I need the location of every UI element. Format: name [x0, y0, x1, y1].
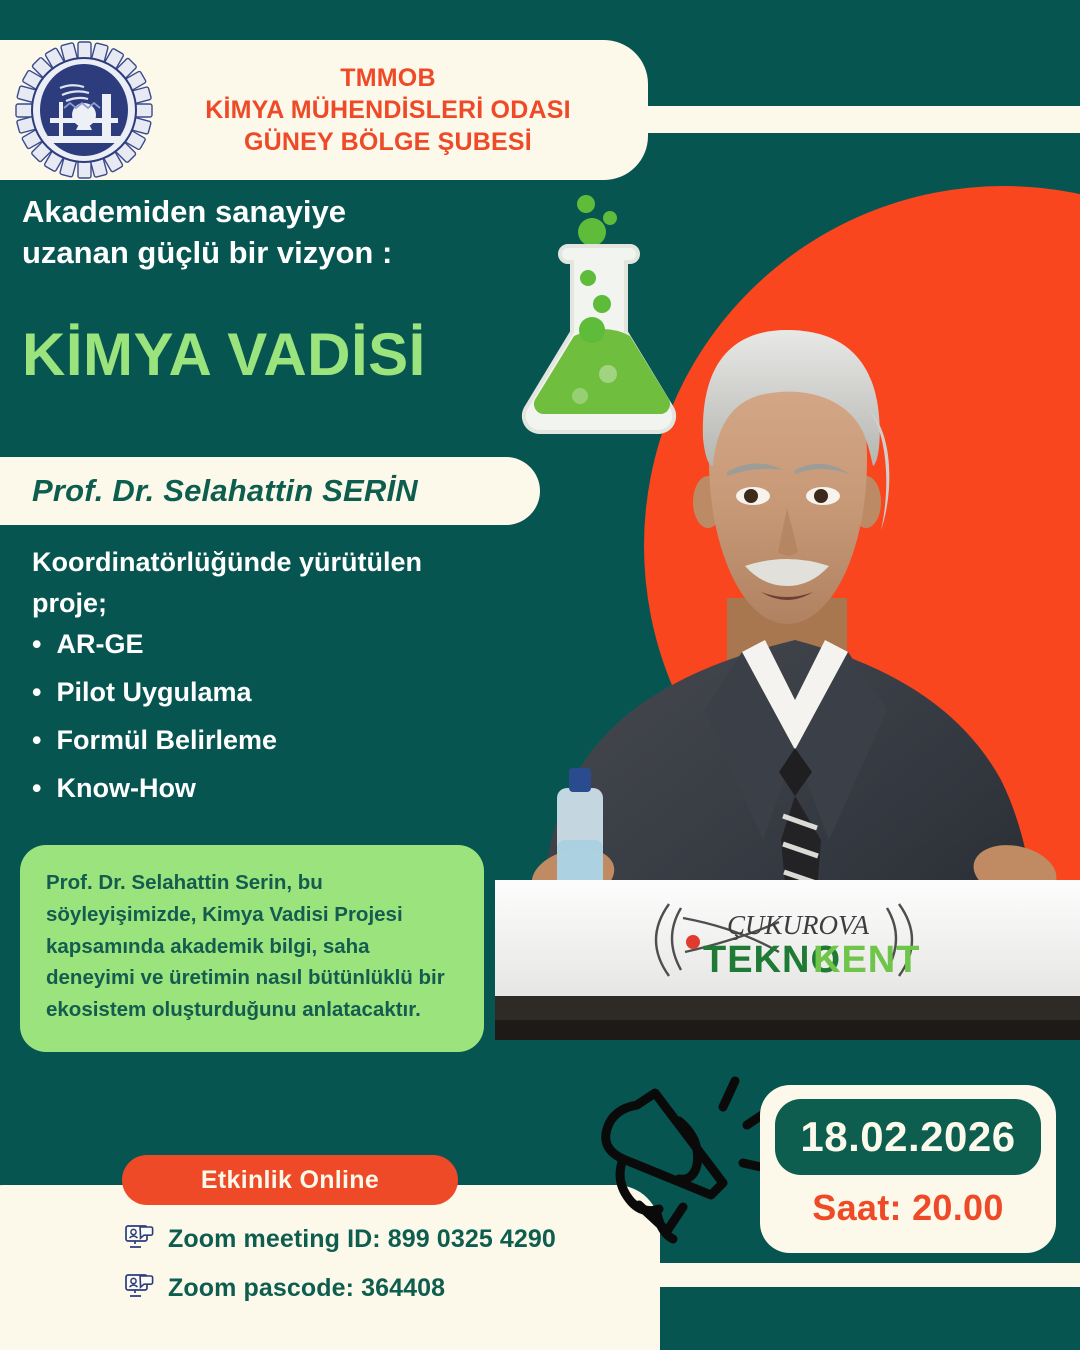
- zoom-meeting-id-row: Zoom meeting ID: 899 0325 4290: [124, 1222, 556, 1257]
- video-conference-icon: [124, 1271, 154, 1306]
- header-panel: TMMOB KİMYA MÜHENDİSLERİ ODASI GÜNEY BÖL…: [0, 40, 648, 180]
- online-badge-label: Etkinlik Online: [201, 1166, 379, 1195]
- svg-text:KENT: KENT: [813, 939, 920, 981]
- event-time: Saat: 20.00: [812, 1187, 1003, 1229]
- zoom-passcode-row: Zoom pascode: 364408: [124, 1271, 556, 1306]
- org-line-1: TMMOB: [164, 62, 612, 94]
- kicker-text: Akademiden sanayiye uzanan güçlü bir viz…: [22, 192, 650, 274]
- megaphone-icon: [583, 1063, 783, 1278]
- speaker-name-pill: Prof. Dr. Selahattin SERİN: [0, 457, 540, 525]
- list-item: Pilot Uygulama: [32, 668, 552, 716]
- organization-name: TMMOB KİMYA MÜHENDİSLERİ ODASI GÜNEY BÖL…: [164, 62, 648, 158]
- date-badge: 18.02.2026: [775, 1099, 1041, 1175]
- main-text-column: Akademiden sanayiye uzanan güçlü bir viz…: [0, 192, 650, 389]
- event-date: 18.02.2026: [800, 1113, 1015, 1161]
- org-line-3: GÜNEY BÖLGE ŞUBESİ: [164, 126, 612, 158]
- tmmob-gear-logo: [4, 40, 164, 180]
- event-poster: ÇUKUROVA TEKNO KENT: [0, 0, 1080, 1350]
- project-bullet-list: AR-GE Pilot Uygulama Formül Belirleme Kn…: [32, 620, 552, 812]
- zoom-passcode-text: Zoom pascode: 364408: [168, 1274, 445, 1303]
- video-conference-icon: [124, 1222, 154, 1257]
- date-time-card: 18.02.2026 Saat: 20.00: [760, 1085, 1056, 1253]
- svg-text:ÇUKUROVA: ÇUKUROVA: [727, 910, 869, 940]
- speaker-name: Prof. Dr. Selahattin SERİN: [32, 473, 418, 509]
- page-title: KİMYA VADİSİ: [22, 320, 650, 389]
- list-item: Know-How: [32, 764, 552, 812]
- zoom-details: Zoom meeting ID: 899 0325 4290 Zoom pasc…: [124, 1222, 556, 1320]
- org-line-2: KİMYA MÜHENDİSLERİ ODASI: [164, 94, 612, 126]
- project-lead-text: Koordinatörlüğünde yürütülen proje;: [32, 542, 552, 623]
- zoom-meeting-id-text: Zoom meeting ID: 899 0325 4290: [168, 1225, 556, 1254]
- list-item: AR-GE: [32, 620, 552, 668]
- list-item: Formül Belirleme: [32, 716, 552, 764]
- description-box: Prof. Dr. Selahattin Serin, bu söyleyişi…: [20, 845, 484, 1052]
- online-badge: Etkinlik Online: [122, 1155, 458, 1205]
